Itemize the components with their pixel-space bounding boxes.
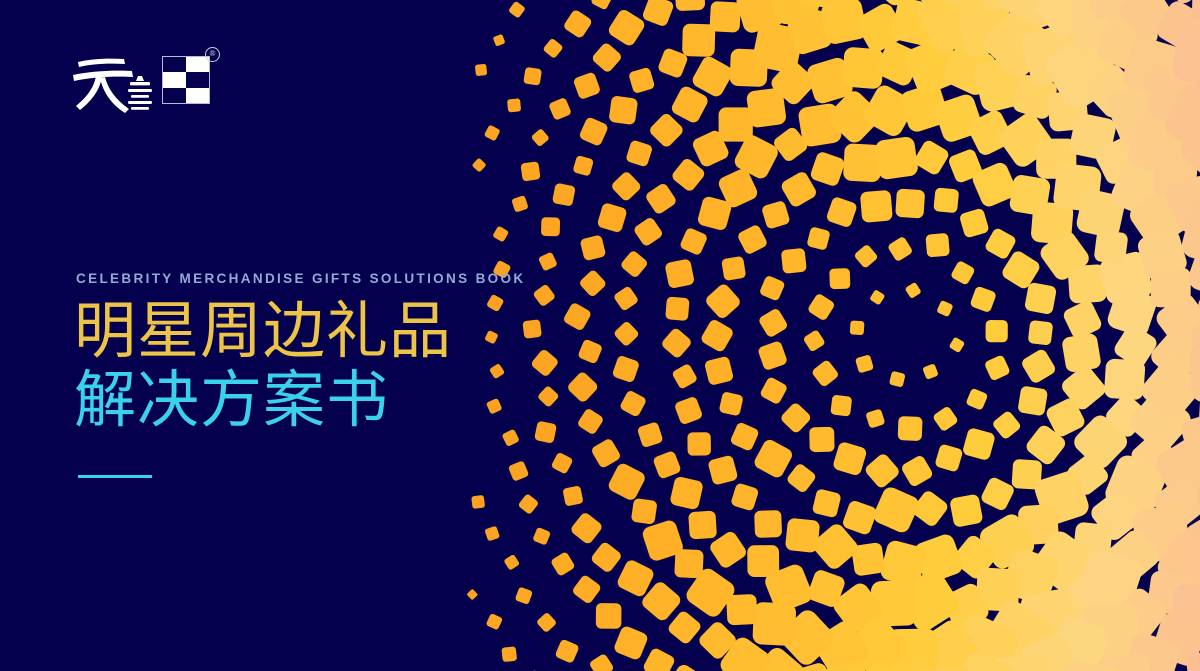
eyebrow-subtitle: CELEBRITY MERCHANDISE GIFTS SOLUTIONS BO… <box>76 272 544 286</box>
headline-line-1: 明星周边礼品 <box>74 298 544 364</box>
checkerboard-mark-icon: ® <box>162 56 218 112</box>
title-block: CELEBRITY MERCHANDISE GIFTS SOLUTIONS BO… <box>74 272 544 478</box>
cover-page: ® CELEBRITY MERCHANDISE GIFTS SOLUTIONS … <box>0 0 1200 671</box>
registered-trademark-icon: ® <box>205 47 220 62</box>
brand-logo[interactable]: ® <box>72 48 218 114</box>
tianyi-wordmark-icon <box>72 48 156 114</box>
headline-line-2: 解决方案书 <box>74 367 544 433</box>
accent-rule <box>78 475 152 478</box>
